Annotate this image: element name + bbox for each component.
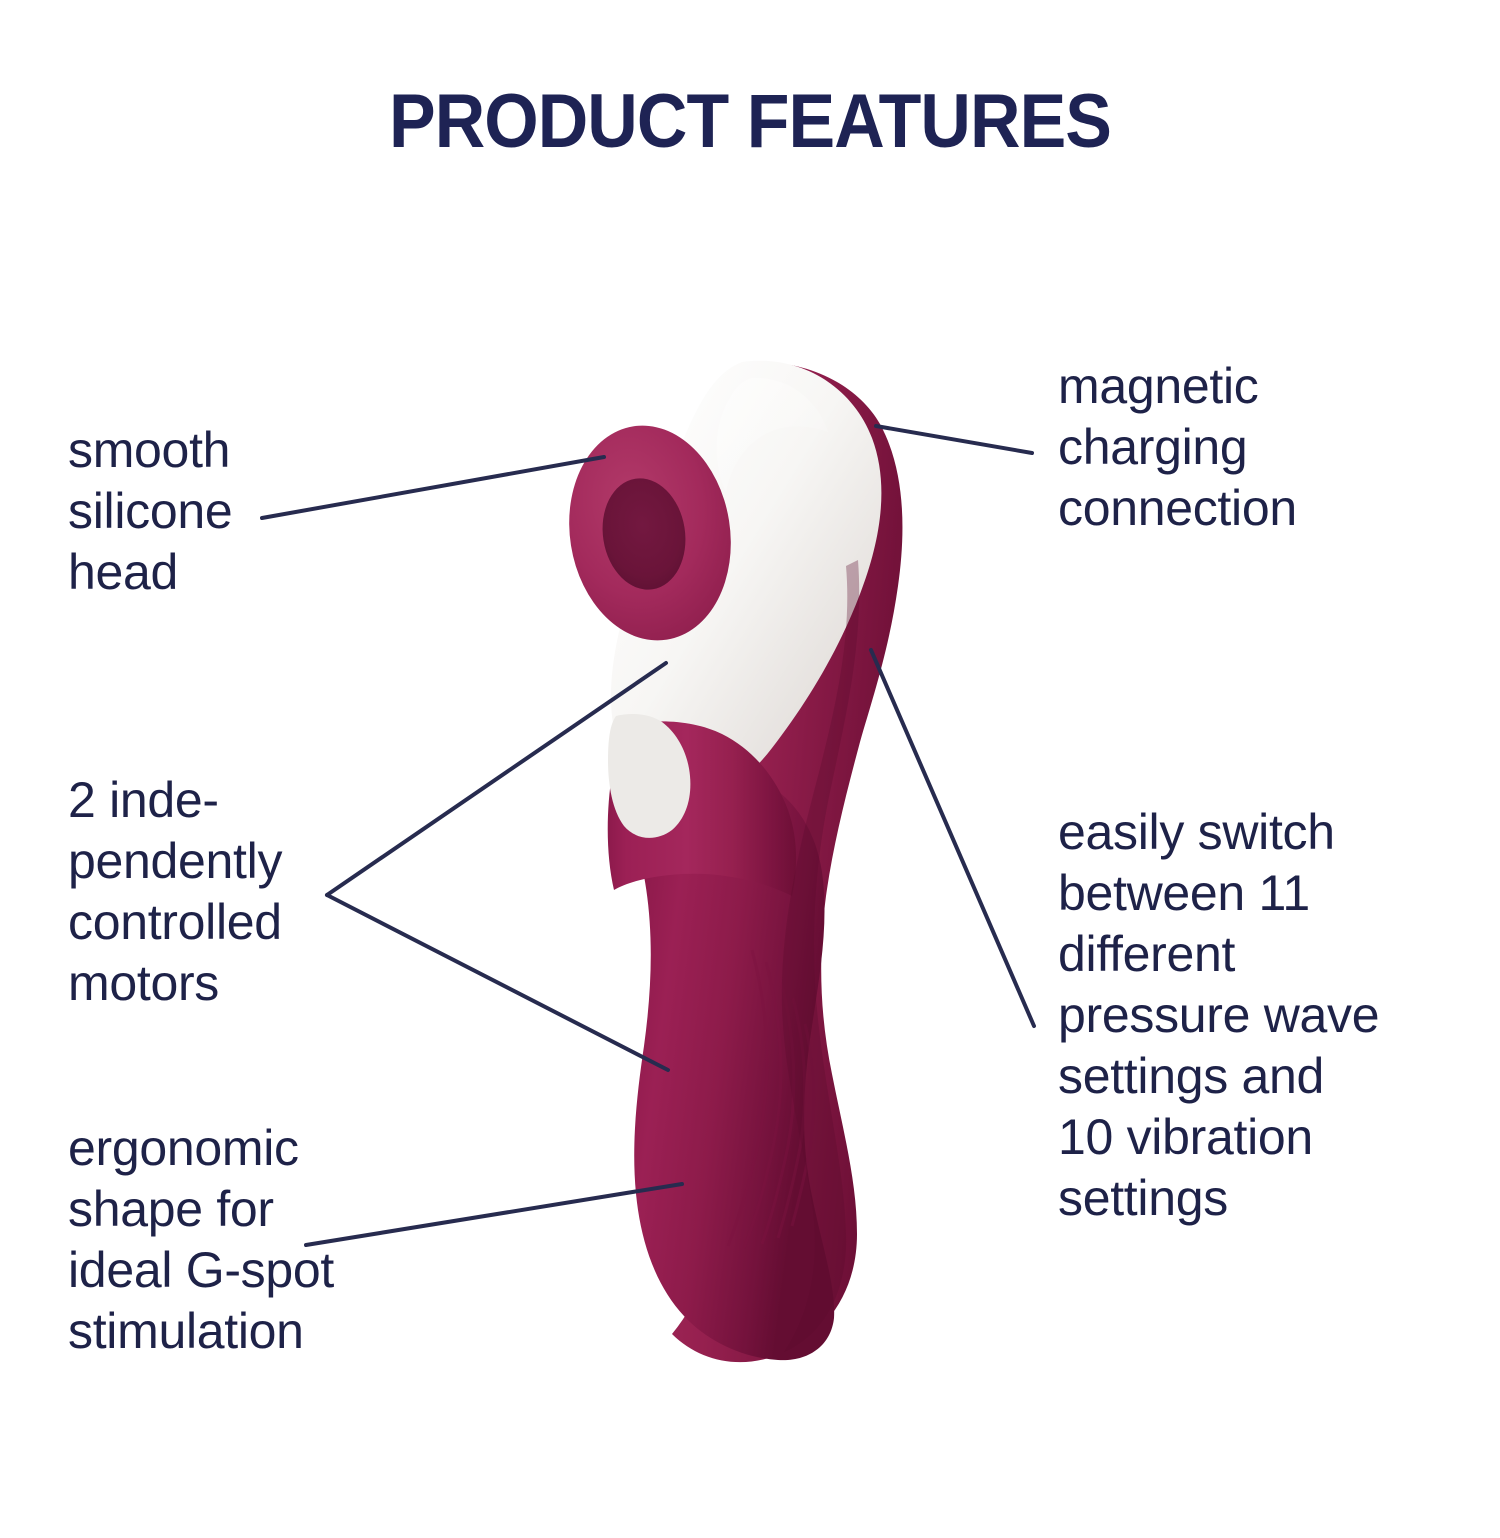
leader-line-magnetic-charging: [876, 426, 1032, 453]
product-features-infographic: PRODUCT FEATURES: [0, 0, 1500, 1538]
label-magnetic-charging-connection: magnetic charging connection: [1058, 356, 1297, 539]
product-body-group: [554, 361, 902, 1362]
leader-line-ergonomic-shape: [306, 1184, 682, 1245]
leader-line-motors-branch-lower: [327, 895, 668, 1070]
label-pressure-wave-and-vibration-settings: easily switch between 11 different press…: [1058, 802, 1379, 1229]
leader-line-smooth-silicone-head: [262, 457, 604, 518]
label-smooth-silicone-head: smooth silicone head: [68, 420, 232, 603]
label-independently-controlled-motors: 2 inde- pendently controlled motors: [68, 770, 282, 1014]
label-ergonomic-shape: ergonomic shape for ideal G-spot stimula…: [68, 1118, 334, 1362]
leader-line-pressure-wave-settings: [871, 650, 1034, 1026]
